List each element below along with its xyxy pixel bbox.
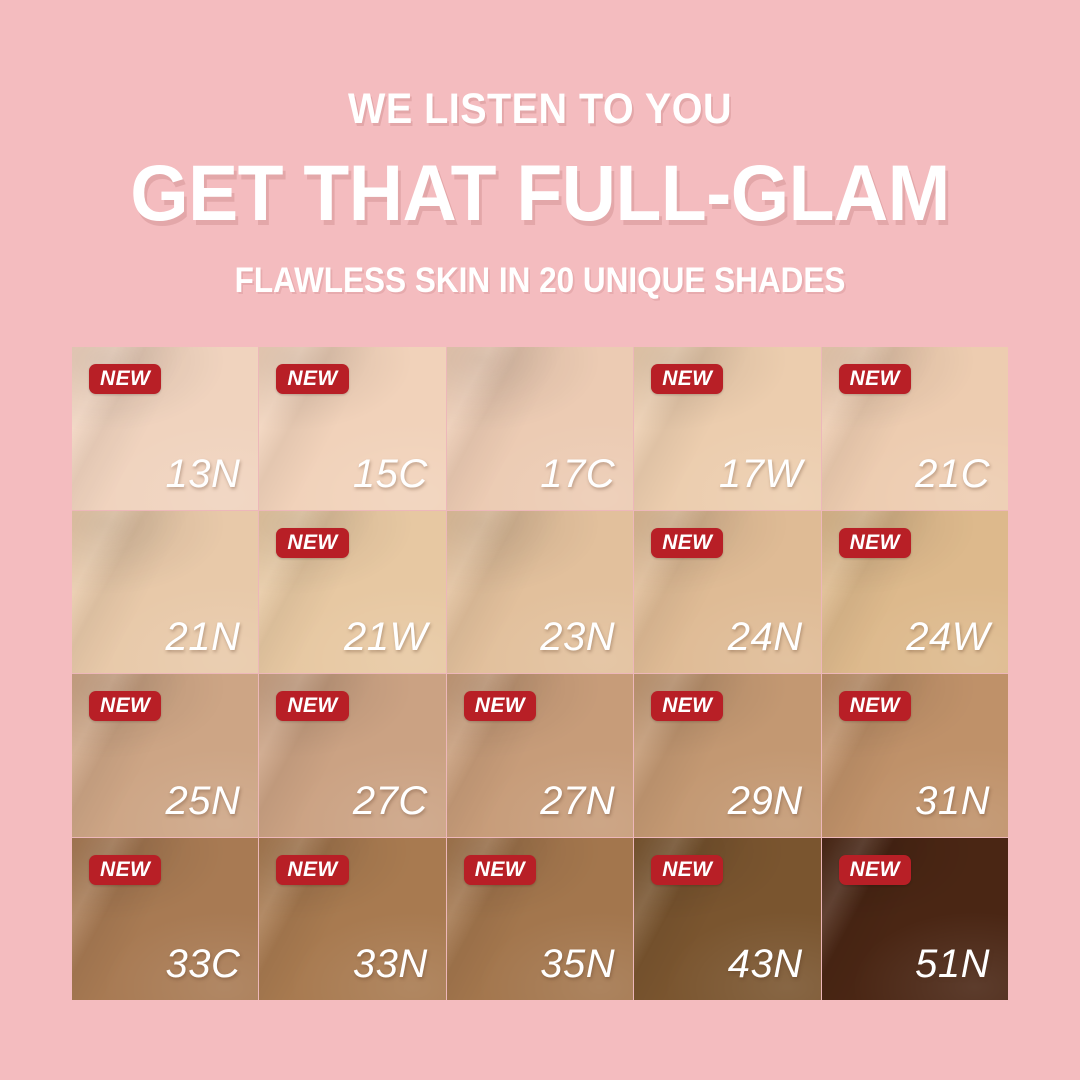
shade-swatch[interactable]: NEW43N: [634, 838, 820, 1001]
shade-name-label: 51N: [915, 944, 990, 984]
shade-swatch[interactable]: NEW31N: [822, 674, 1008, 837]
new-badge: NEW: [276, 691, 348, 721]
shade-swatch[interactable]: NEW24W: [822, 511, 1008, 674]
shade-name-label: 33N: [353, 944, 428, 984]
shade-name-label: 21N: [166, 617, 241, 657]
shade-name-label: 15C: [353, 454, 428, 494]
new-badge: NEW: [651, 364, 723, 394]
shade-name-label: 23N: [540, 617, 615, 657]
new-badge: NEW: [839, 528, 911, 558]
new-badge: NEW: [839, 855, 911, 885]
shade-swatch[interactable]: NEW27N: [447, 674, 633, 837]
shade-name-label: 17W: [719, 454, 803, 494]
new-badge: NEW: [464, 691, 536, 721]
new-badge: NEW: [89, 855, 161, 885]
promo-header: WE LISTEN TO YOU GET THAT FULL-GLAM FLAW…: [0, 0, 1080, 298]
shade-swatch[interactable]: NEW29N: [634, 674, 820, 837]
shade-swatch[interactable]: NEW51N: [822, 838, 1008, 1001]
subheadline-text: FLAWLESS SKIN IN 20 UNIQUE SHADES: [54, 232, 1026, 298]
new-badge: NEW: [839, 364, 911, 394]
shade-swatch[interactable]: NEW35N: [447, 838, 633, 1001]
shade-name-label: 24W: [906, 617, 990, 657]
shade-swatch[interactable]: NEW17W: [634, 347, 820, 510]
shade-name-label: 21C: [915, 454, 990, 494]
shade-swatch[interactable]: NEW33C: [72, 838, 258, 1001]
new-badge: NEW: [651, 691, 723, 721]
new-badge: NEW: [651, 855, 723, 885]
shade-swatch[interactable]: NEW15C: [259, 347, 445, 510]
new-badge: NEW: [276, 364, 348, 394]
shade-swatch[interactable]: NEW17C: [447, 347, 633, 510]
shade-swatch[interactable]: NEW25N: [72, 674, 258, 837]
shade-name-label: 35N: [540, 944, 615, 984]
new-badge: NEW: [839, 691, 911, 721]
new-badge: NEW: [651, 528, 723, 558]
new-badge: NEW: [89, 364, 161, 394]
shade-swatch[interactable]: NEW23N: [447, 511, 633, 674]
shade-name-label: 27N: [540, 781, 615, 821]
shade-swatch[interactable]: NEW27C: [259, 674, 445, 837]
new-badge: NEW: [276, 528, 348, 558]
shade-name-label: 31N: [915, 781, 990, 821]
new-badge: NEW: [276, 855, 348, 885]
shade-name-label: 21W: [344, 617, 428, 657]
shade-name-label: 43N: [728, 944, 803, 984]
shade-name-label: 24N: [728, 617, 803, 657]
shade-name-label: 13N: [166, 454, 241, 494]
eyebrow-text: WE LISTEN TO YOU: [43, 0, 1037, 131]
shade-name-label: 29N: [728, 781, 803, 821]
shade-name-label: 17C: [540, 454, 615, 494]
new-badge: NEW: [89, 691, 161, 721]
shade-swatch[interactable]: NEW13N: [72, 347, 258, 510]
shade-name-label: 25N: [166, 781, 241, 821]
headline-text: GET THAT FULL-GLAM: [27, 131, 1053, 232]
shade-name-label: 33C: [166, 944, 241, 984]
shade-swatch[interactable]: NEW21C: [822, 347, 1008, 510]
shade-swatch[interactable]: NEW21N: [72, 511, 258, 674]
shade-name-label: 27C: [353, 781, 428, 821]
shade-swatch[interactable]: NEW24N: [634, 511, 820, 674]
shade-swatch[interactable]: NEW21W: [259, 511, 445, 674]
shade-swatch[interactable]: NEW33N: [259, 838, 445, 1001]
shade-grid: NEW13NNEW15CNEW17CNEW17WNEW21CNEW21NNEW2…: [72, 347, 1008, 1000]
new-badge: NEW: [464, 855, 536, 885]
